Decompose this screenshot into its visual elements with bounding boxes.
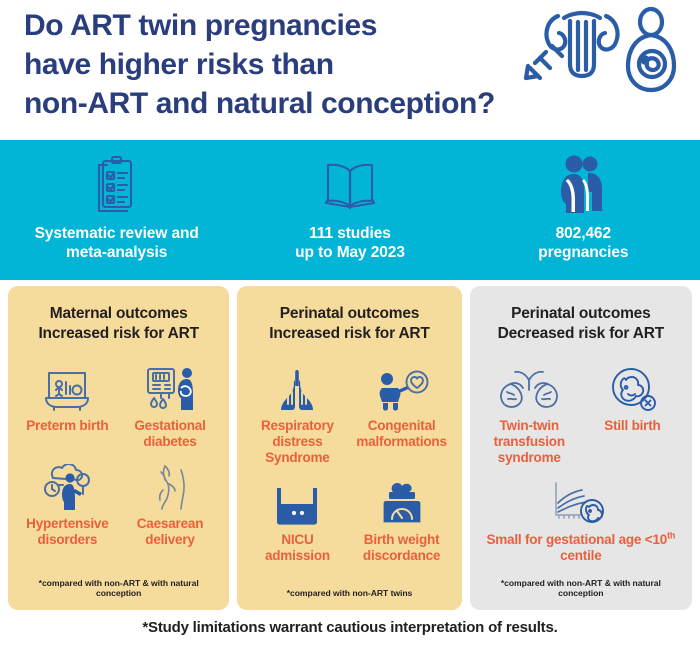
growth-chart-icon (546, 474, 616, 526)
blood-pressure-icon (39, 458, 95, 510)
baby-heart-icon (374, 360, 430, 412)
footer: *Study limitations warrant cautious inte… (0, 610, 700, 645)
header: Do ART twin pregnancies have higher risk… (0, 0, 700, 140)
outcome-label-nicu-admission: NICU admission (245, 532, 349, 564)
outcome-label-still-birth: Still birth (602, 418, 662, 434)
outcome-item-birth-weight-discordance[interactable]: Birth weight discordance (350, 474, 454, 564)
two-pregnant-people-icon (558, 152, 608, 216)
outcome-cards: Maternal outcomes Increased risk for ART (0, 280, 700, 610)
outcome-label-preterm-birth: Preterm birth (24, 418, 110, 434)
lungs-icon (272, 360, 322, 412)
outcome-label-small-for-gestational-age: Small for gestational age <10th centile (478, 532, 684, 564)
page-title-line-2: have higher risks than (24, 45, 544, 84)
outcome-item-small-for-gestational-age[interactable]: Small for gestational age <10th centile (478, 474, 684, 564)
card-items-maternal: Preterm birth (16, 348, 221, 578)
outcome-item-twin-twin-transfusion[interactable]: Twin-twin transfusion syndrome (478, 360, 581, 466)
caesarean-scar-icon (149, 458, 191, 510)
outcome-label-respiratory-distress: Respiratory distress Syndrome (245, 418, 349, 466)
card-title-perinatal-decreased: Perinatal outcomes Decreased risk for AR… (478, 304, 684, 344)
card-title-perinatal-increased: Perinatal outcomes Increased risk for AR… (245, 304, 453, 344)
incubator-preterm-icon (42, 360, 92, 412)
card-title-maternal-increased: Maternal outcomes Increased risk for ART (16, 304, 221, 344)
page-title-line-3: non-ART and natural conception? (24, 84, 544, 123)
header-icons-svg (518, 4, 686, 96)
outcome-item-respiratory-distress[interactable]: Respiratory distress Syndrome (245, 360, 349, 466)
nicu-incubator-icon (271, 474, 323, 526)
outcome-label-congenital-malformations: Congenital malformations (350, 418, 454, 450)
outcome-item-gestational-diabetes[interactable]: Gestational diabetes (119, 360, 222, 450)
stat-systematic-review: Systematic review and meta-analysis (0, 152, 233, 263)
stat-label-studies: 111 studies up to May 2023 (295, 224, 405, 263)
pregnant-woman-icon (628, 9, 674, 90)
footer-disclaimer: *Study limitations warrant cautious inte… (142, 619, 557, 636)
card-items-perinatal-increased: Respiratory distress Syndrome (245, 348, 453, 588)
card-maternal-increased: Maternal outcomes Increased risk for ART (8, 286, 229, 610)
twin-placenta-icon (495, 360, 563, 412)
open-book-icon (324, 152, 376, 216)
glucose-monitor-icon (143, 360, 197, 412)
clipboard-checklist-icon (94, 152, 140, 216)
outcome-label-caesarean-delivery: Caesarean delivery (119, 516, 222, 548)
stillbirth-icon (606, 360, 658, 412)
card-note-perinatal-increased: *compared with non-ART twins (245, 588, 453, 604)
outcome-label-hypertensive-disorders: Hypertensive disorders (16, 516, 119, 548)
header-icon-group (518, 4, 686, 96)
stat-pregnancies: 802,462 pregnancies (467, 152, 700, 263)
card-items-perinatal-decreased: Twin-twin transfusion syndrome Still bir… (478, 348, 684, 578)
stats-band: Systematic review and meta-analysis 111 … (0, 140, 700, 280)
outcome-item-congenital-malformations[interactable]: Congenital malformations (350, 360, 454, 466)
outcome-item-preterm-birth[interactable]: Preterm birth (16, 360, 119, 450)
baby-scale-icon (378, 474, 426, 526)
outcome-label-gestational-diabetes: Gestational diabetes (119, 418, 222, 450)
card-perinatal-decreased: Perinatal outcomes Decreased risk for AR… (470, 286, 692, 610)
stat-studies: 111 studies up to May 2023 (233, 152, 466, 263)
stat-label-pregnancies: 802,462 pregnancies (538, 224, 628, 263)
page-title: Do ART twin pregnancies have higher risk… (24, 6, 544, 123)
outcome-item-caesarean-delivery[interactable]: Caesarean delivery (119, 458, 222, 548)
stat-label-systematic-review: Systematic review and meta-analysis (35, 224, 199, 263)
outcome-item-hypertensive-disorders[interactable]: Hypertensive disorders (16, 458, 119, 548)
uterus-syringe-ivf-icon (526, 13, 618, 78)
outcome-item-still-birth[interactable]: Still birth (581, 360, 684, 466)
card-note-maternal: *compared with non-ART & with natural co… (16, 578, 221, 604)
sga-label-main: Small for gestational age <10th centile (486, 532, 675, 563)
card-note-perinatal-decreased: *compared with non-ART & with natural co… (478, 578, 684, 604)
outcome-label-birth-weight-discordance: Birth weight discordance (350, 532, 454, 564)
outcome-item-nicu-admission[interactable]: NICU admission (245, 474, 349, 564)
page-title-line-1: Do ART twin pregnancies (24, 6, 544, 45)
outcome-label-twin-twin-transfusion: Twin-twin transfusion syndrome (478, 418, 581, 466)
card-perinatal-increased: Perinatal outcomes Increased risk for AR… (237, 286, 461, 610)
